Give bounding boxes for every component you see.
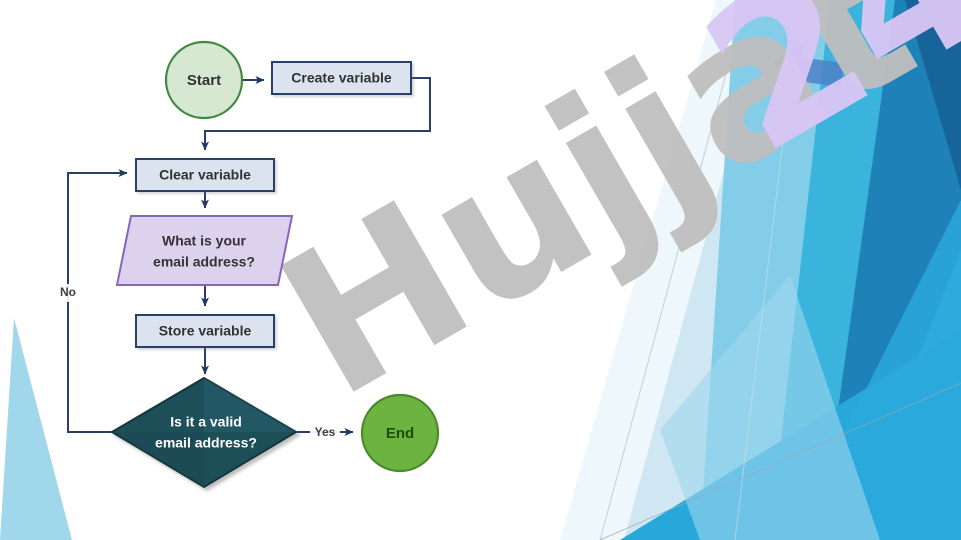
end-label: End <box>386 425 414 442</box>
email-prompt-parallelogram-shape <box>117 216 292 285</box>
store-variable-label: Store variable <box>159 323 252 339</box>
decision-label-line1: Is it a valid <box>170 414 242 430</box>
node-start[interactable]: Start <box>166 42 242 118</box>
create-variable-label: Create variable <box>291 70 392 86</box>
email-prompt-label-line1: What is your <box>162 233 247 249</box>
flowchart: Start Create variable Clear variable Wha… <box>0 0 961 540</box>
clear-variable-label: Clear variable <box>159 167 251 183</box>
node-email-prompt[interactable]: What is your email address? <box>117 216 292 285</box>
email-prompt-label-line2: email address? <box>153 254 255 270</box>
node-store-variable[interactable]: Store variable <box>136 315 274 347</box>
node-end[interactable]: End <box>362 395 438 471</box>
decision-label-line2: email address? <box>155 435 257 451</box>
node-is-valid-email[interactable]: Is it a valid email address? <box>112 378 296 487</box>
edge-label-yes: Yes <box>315 425 336 439</box>
start-label: Start <box>187 72 221 89</box>
edge-label-no: No <box>60 285 76 299</box>
node-clear-variable[interactable]: Clear variable <box>136 159 274 191</box>
edge-decision-no-to-clear-variable <box>68 173 127 432</box>
slide-canvas: Hujjat 24 <box>0 0 961 540</box>
node-create-variable[interactable]: Create variable <box>272 62 411 94</box>
